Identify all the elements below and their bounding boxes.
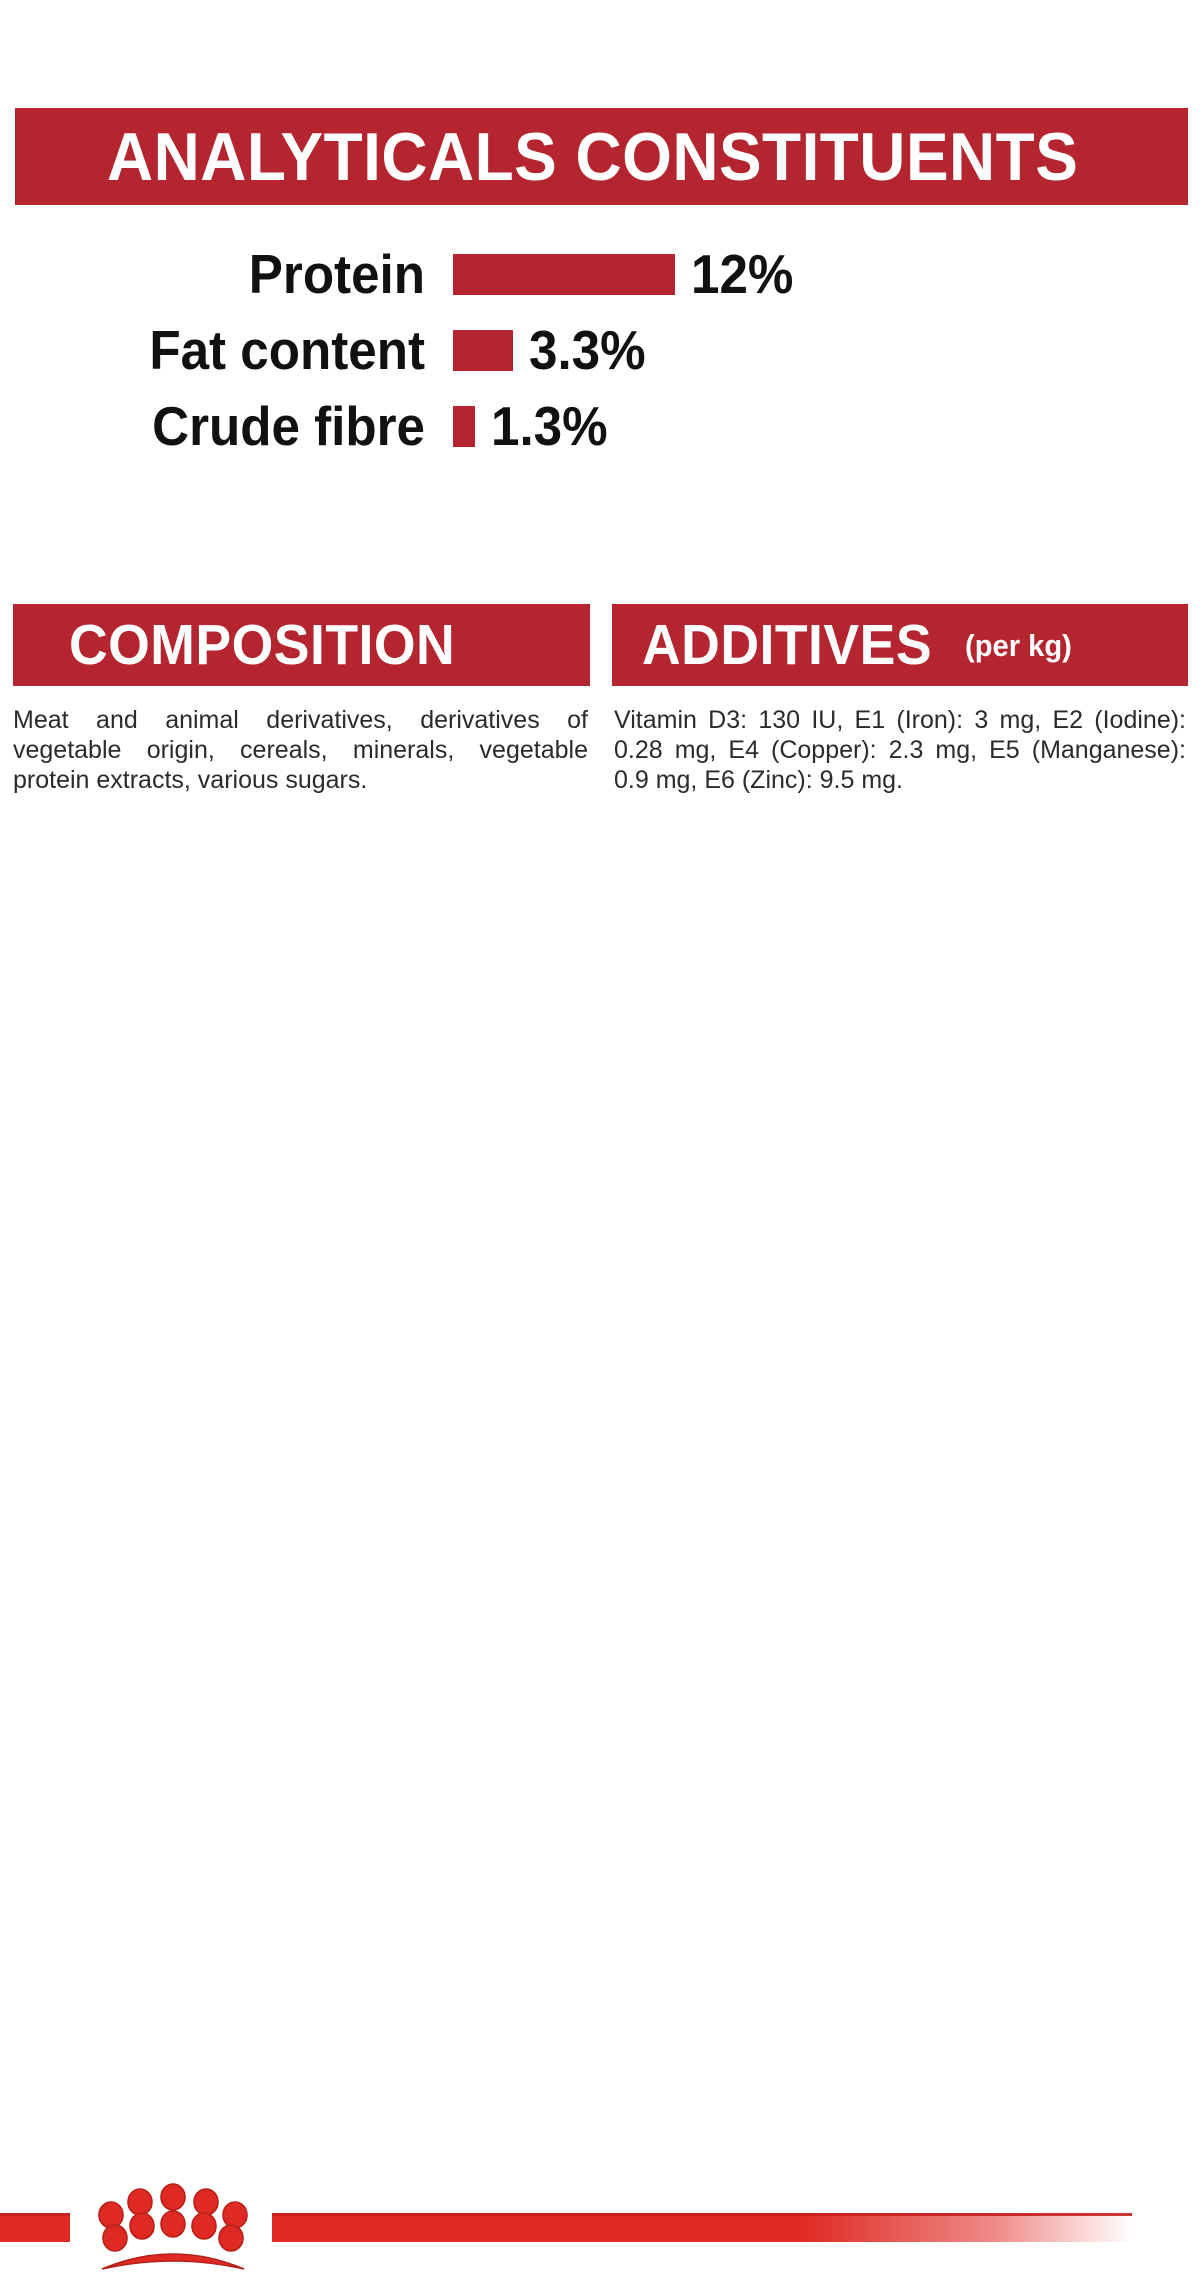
composition-banner: COMPOSITION (13, 604, 590, 686)
constituent-bar-fat-content (453, 330, 513, 371)
nutrition-panel: ANALYTICALS CONSTITUENTS Protein 12% Fat… (0, 0, 1200, 1200)
constituent-row: Protein 12% (0, 236, 1200, 312)
constituent-label-protein: Protein (30, 247, 425, 302)
constituent-label-fat-content: Fat content (30, 323, 425, 378)
footer-brand-bar (0, 1085, 1200, 1200)
constituent-label-crude-fibre: Crude fibre (30, 399, 425, 454)
footer-rule-left (0, 2213, 70, 2242)
constituent-row: Crude fibre 1.3% (0, 388, 1200, 464)
additives-title: ADDITIVES (642, 617, 932, 674)
constituent-bar-crude-fibre (453, 406, 475, 447)
constituent-value-crude-fibre: 1.3% (491, 399, 608, 454)
analytical-constituents-banner: ANALYTICALS CONSTITUENTS (15, 108, 1188, 205)
constituent-bar-group: 3.3% (453, 323, 654, 378)
footer-rule-right (272, 2213, 1132, 2242)
constituent-value-fat-content: 3.3% (529, 323, 646, 378)
constituent-bar-group: 12% (453, 247, 801, 302)
analytical-constituents-title: ANALYTICALS CONSTITUENTS (107, 123, 1078, 191)
constituents-chart: Protein 12% Fat content 3.3% Crude fibre… (0, 236, 1200, 464)
royal-canin-crown-icon (78, 2181, 268, 2281)
additives-banner: ADDITIVES (per kg) (612, 604, 1188, 686)
composition-body-text: Meat and animal derivatives, derivatives… (13, 705, 588, 795)
constituent-row: Fat content 3.3% (0, 312, 1200, 388)
additives-subtitle: (per kg) (965, 630, 1072, 661)
composition-title: COMPOSITION (69, 617, 455, 674)
additives-body-text: Vitamin D3: 130 IU, E1 (Iron): 3 mg, E2 … (614, 705, 1186, 795)
constituent-bar-protein (453, 254, 675, 295)
constituent-bar-group: 1.3% (453, 399, 616, 454)
constituent-value-protein: 12% (691, 247, 793, 302)
